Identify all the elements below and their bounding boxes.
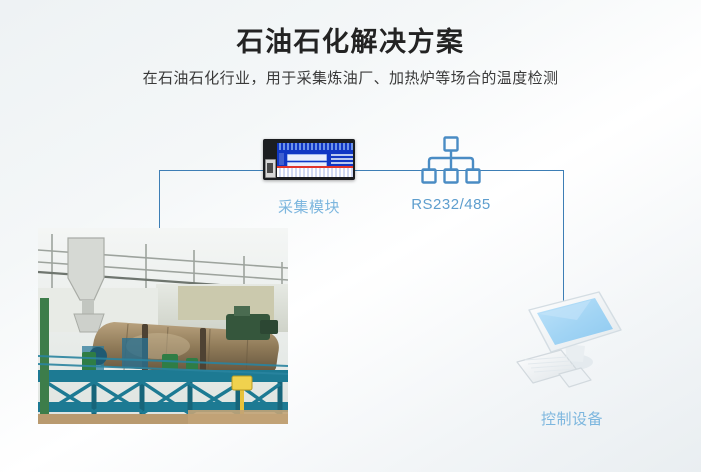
data-acquisition-module-device	[263, 139, 355, 180]
rs232-485-label: RS232/485	[390, 196, 512, 213]
acquisition-module-label: 采集模块	[249, 196, 369, 217]
db9-connector-icon	[265, 159, 276, 178]
control-equipment-label: 控制设备	[512, 408, 632, 429]
page-title: 石油石化解决方案	[0, 20, 701, 59]
page-subtitle: 在石油石化行业，用于采集炼油厂、加热炉等场合的温度检测	[0, 67, 701, 88]
module-spec-text	[331, 154, 353, 156]
module-label-line-1	[287, 154, 327, 161]
module-bottom-terminal-strip	[277, 166, 353, 177]
connector-left-vertical-line	[159, 170, 160, 232]
desktop-computer-icon	[515, 288, 635, 396]
refinery-photo	[38, 228, 288, 424]
network-hierarchy-icon	[420, 136, 482, 184]
module-top-terminal-strip	[277, 143, 353, 150]
connector-horizontal-line	[159, 170, 564, 171]
module-front-panel	[277, 143, 353, 177]
connector-right-vertical-line	[563, 170, 564, 301]
solution-diagram-page: 石油石化解决方案 在石油石化行业，用于采集炼油厂、加热炉等场合的温度检测 采集模…	[0, 0, 701, 472]
module-side-badge	[279, 153, 284, 165]
